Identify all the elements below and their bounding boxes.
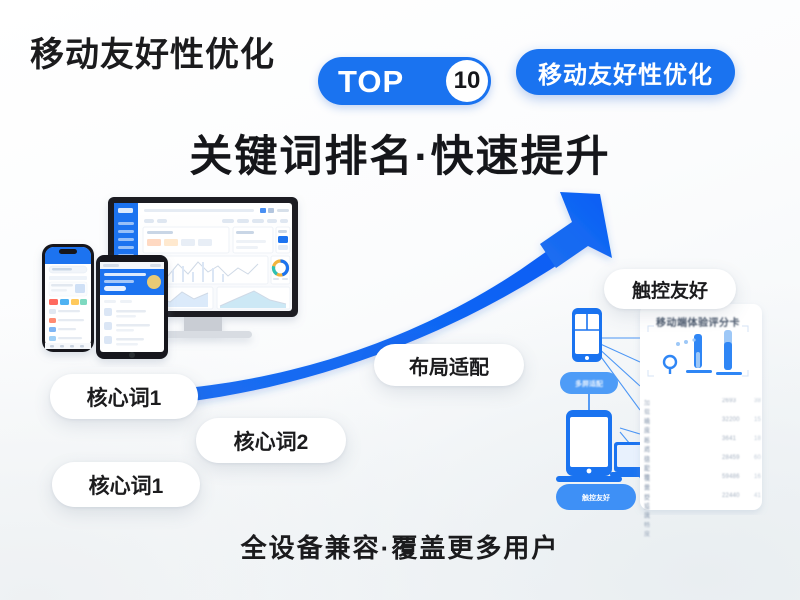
feature-card-touch: 触控友好 xyxy=(604,269,736,309)
scorecard-title: 移动端体验评分卡 xyxy=(638,314,758,329)
footer-tagline: 全设备兼容·覆盖更多用户 xyxy=(0,528,800,565)
diagram-phone-small xyxy=(572,308,602,362)
top-badge-label: TOP xyxy=(338,66,404,97)
header-tag-pill: 移动友好性优化 xyxy=(516,49,735,95)
diagram-pill-top: 多屏适配 xyxy=(560,372,618,394)
tablet-device xyxy=(96,255,168,359)
diagram-tablet xyxy=(556,410,622,482)
smartphone-device xyxy=(42,244,94,352)
keyword-card-1: 核心词1 xyxy=(50,374,198,419)
feature-card-layout: 布局适配 xyxy=(374,344,524,386)
page-title: 关键词排名·快速提升 xyxy=(0,122,800,184)
diagram-pill-bottom: 触控友好 xyxy=(556,484,636,510)
svg-text:触控友好: 触控友好 xyxy=(581,493,610,502)
top-badge-number: 10 xyxy=(446,60,488,102)
device-mockup-illustration xyxy=(32,192,332,367)
svg-text:多屏适配: 多屏适配 xyxy=(575,379,603,388)
keyword-card-3: 核心词1 xyxy=(52,462,200,507)
multi-device-diagram: 多屏适配 触控友好 xyxy=(548,300,798,515)
header-kicker: 移动友好性优化 xyxy=(30,27,275,76)
top-rank-badge: TOP 10 xyxy=(318,57,491,105)
keyword-card-2: 核心词2 xyxy=(196,418,346,463)
poster-canvas: 多屏适配 触控友好 xyxy=(0,0,800,600)
